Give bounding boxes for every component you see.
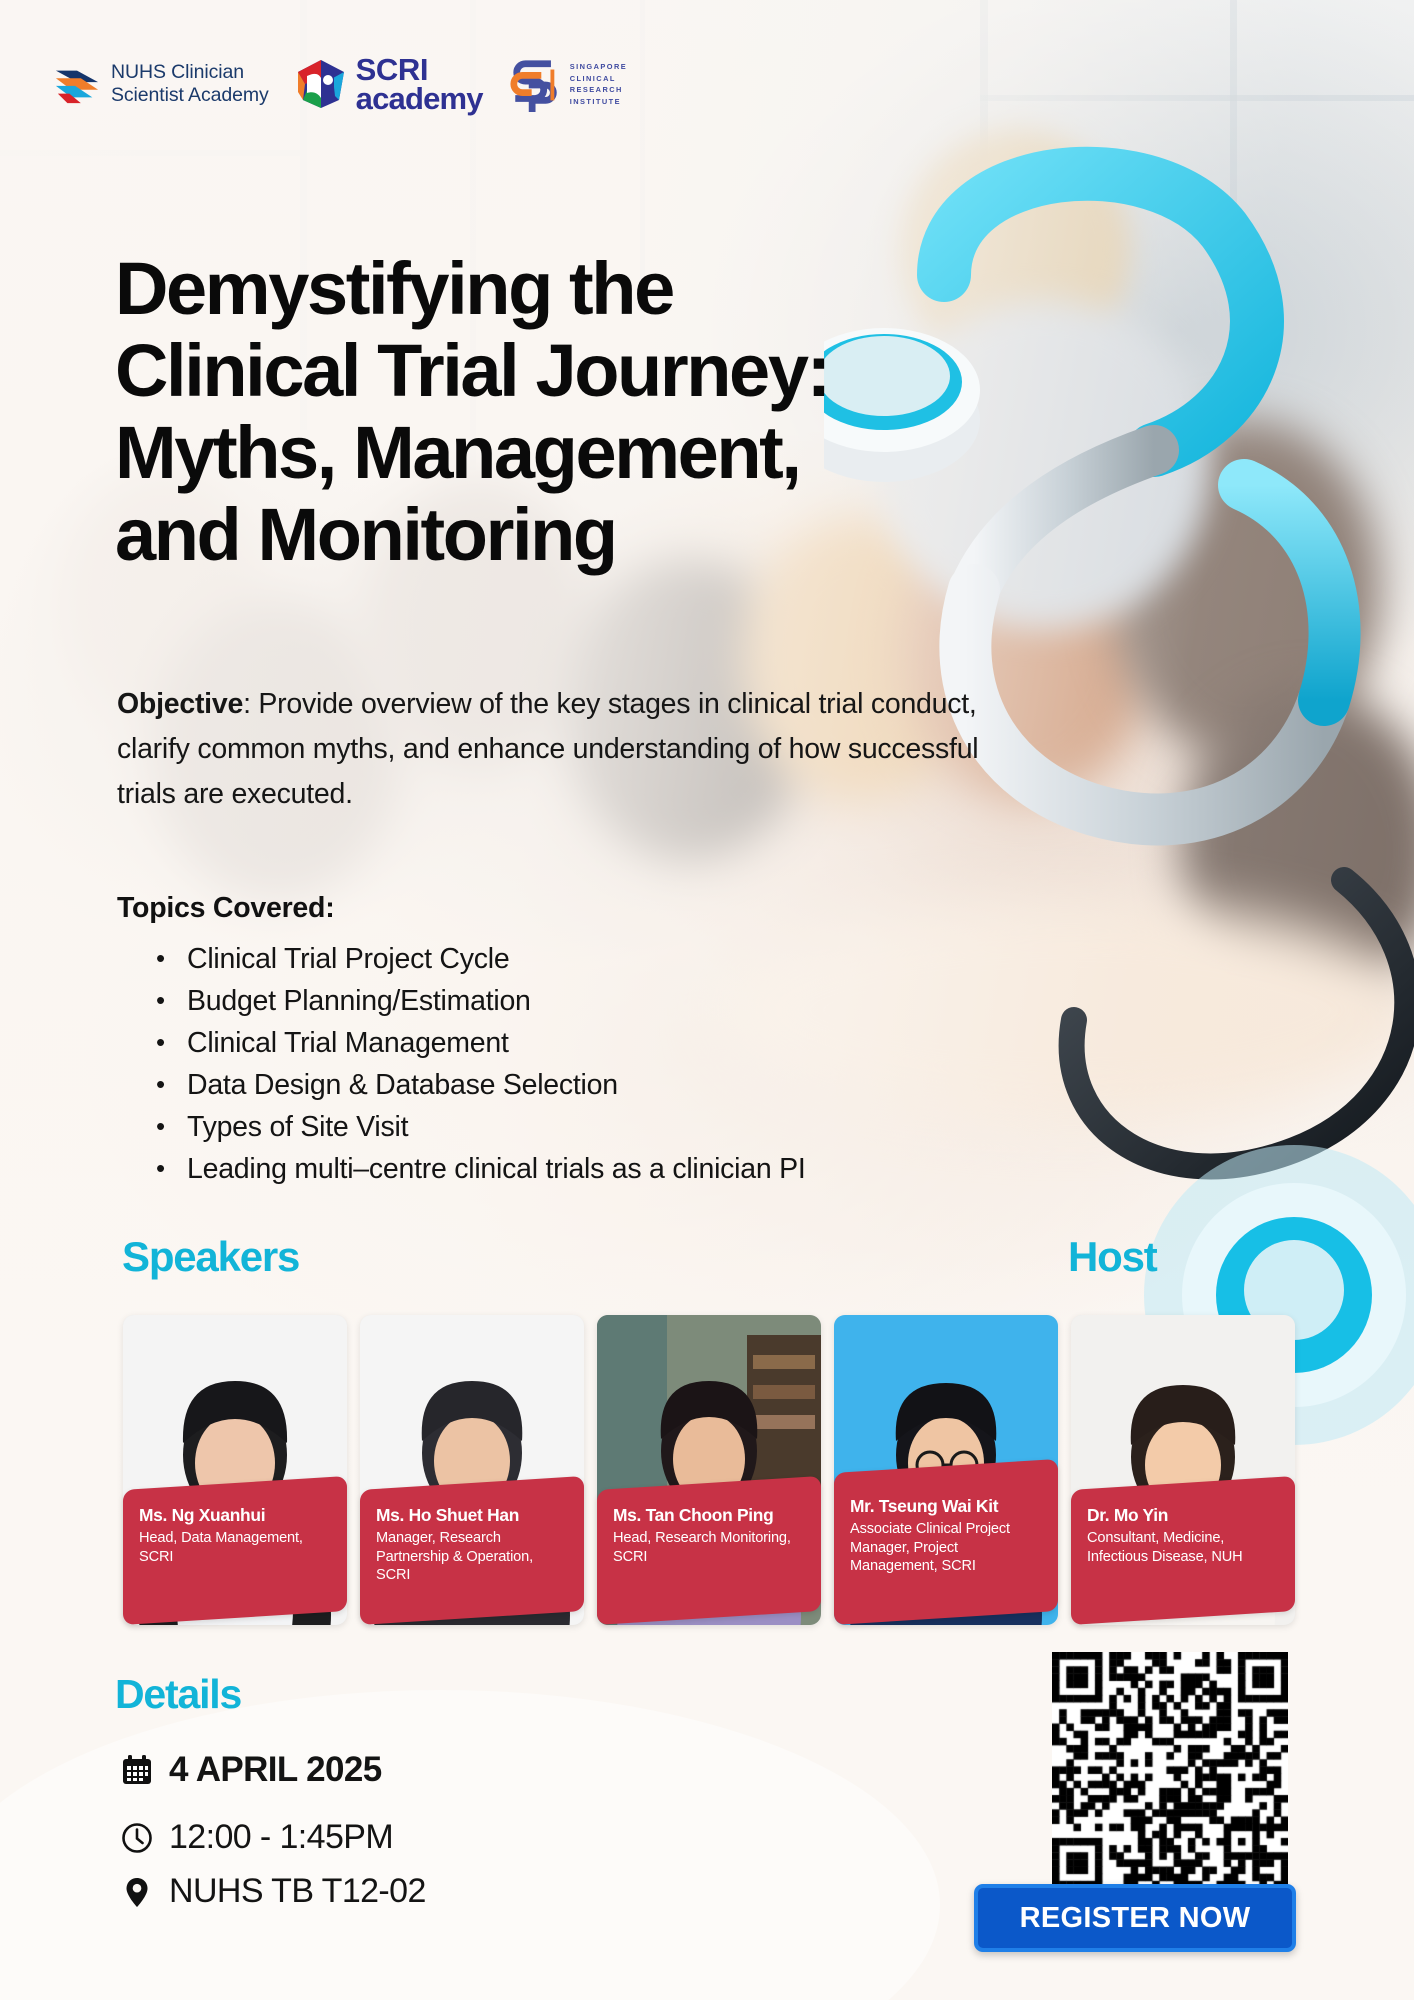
host-name: Dr. Mo Yin xyxy=(1087,1505,1281,1526)
scri-monogram-icon xyxy=(509,56,563,112)
location-pin-icon xyxy=(120,1875,154,1909)
detail-time: 12:00 - 1:45PM xyxy=(120,1818,393,1857)
speaker-name-plate: Ms. Ng Xuanhui Head, Data Management, SC… xyxy=(123,1476,347,1625)
nuhs-logo-text: NUHS Clinician Scientist Academy xyxy=(111,61,269,107)
scri-institute-words: SINGAPORE CLINICAL RESEARCH INSTITUTE xyxy=(570,61,627,107)
objective-label: Objective xyxy=(117,688,243,720)
detail-time-value: 12:00 - 1:45PM xyxy=(169,1818,393,1857)
objective-paragraph: Objective: Provide overview of the key s… xyxy=(117,682,997,817)
clock-icon xyxy=(120,1821,154,1855)
speaker-role: Head, Data Management, SCRI xyxy=(139,1529,333,1566)
nuhs-ribbon-icon xyxy=(54,61,100,107)
nuhs-clinician-scientist-academy-logo: NUHS Clinician Scientist Academy xyxy=(54,61,269,107)
speaker-card: Mr. Tseung Wai Kit Associate Clinical Pr… xyxy=(834,1315,1058,1625)
register-now-button[interactable]: REGISTER NOW xyxy=(974,1884,1296,1952)
event-poster: NUHS Clinician Scientist Academy SCRI ac… xyxy=(0,0,1414,2000)
scri-academy-logo-text: SCRI academy xyxy=(356,55,483,113)
topics-list: Clinical Trial Project Cycle Budget Plan… xyxy=(148,938,806,1190)
speaker-card-list: Ms. Ng Xuanhui Head, Data Management, SC… xyxy=(123,1315,1295,1625)
speakers-heading: Speakers xyxy=(122,1233,299,1281)
speaker-card: Ms. Ng Xuanhui Head, Data Management, SC… xyxy=(123,1315,347,1625)
scri-academy-book-icon xyxy=(295,58,347,110)
speaker-card: Ms. Ho Shuet Han Manager, Research Partn… xyxy=(360,1315,584,1625)
calendar-icon xyxy=(120,1753,154,1787)
list-item: Types of Site Visit xyxy=(148,1106,806,1148)
detail-date-value: 4 APRIL 2025 xyxy=(169,1750,382,1790)
list-item: Budget Planning/Estimation xyxy=(148,980,806,1022)
topics-heading: Topics Covered: xyxy=(117,892,334,925)
singapore-clinical-research-institute-logo: SINGAPORE CLINICAL RESEARCH INSTITUTE xyxy=(509,56,627,112)
speaker-name: Ms. Ho Shuet Han xyxy=(376,1505,570,1526)
scri-academy-logo: SCRI academy xyxy=(295,55,483,113)
speaker-name-plate: Ms. Tan Choon Ping Head, Research Monito… xyxy=(597,1476,821,1625)
host-card: Dr. Mo Yin Consultant, Medicine, Infecti… xyxy=(1071,1315,1295,1625)
speaker-name: Ms. Ng Xuanhui xyxy=(139,1505,333,1526)
detail-date: 4 APRIL 2025 xyxy=(120,1750,382,1790)
list-item: Leading multi–centre clinical trials as … xyxy=(148,1148,806,1190)
speaker-role: Manager, Research Partnership & Operatio… xyxy=(376,1529,570,1585)
host-name-plate: Dr. Mo Yin Consultant, Medicine, Infecti… xyxy=(1071,1476,1295,1625)
speaker-role: Associate Clinical Project Manager, Proj… xyxy=(850,1520,1044,1576)
logo-bar: NUHS Clinician Scientist Academy SCRI ac… xyxy=(54,55,627,113)
speaker-name-plate: Mr. Tseung Wai Kit Associate Clinical Pr… xyxy=(834,1459,1058,1625)
list-item: Data Design & Database Selection xyxy=(148,1064,806,1106)
host-heading: Host xyxy=(1068,1233,1157,1281)
registration-qr-code[interactable] xyxy=(1052,1652,1288,1888)
speaker-card: Ms. Tan Choon Ping Head, Research Monito… xyxy=(597,1315,821,1625)
speaker-name: Ms. Tan Choon Ping xyxy=(613,1505,807,1526)
detail-venue: NUHS TB T12-02 xyxy=(120,1872,426,1911)
speaker-role: Head, Research Monitoring, SCRI xyxy=(613,1529,807,1566)
details-heading: Details xyxy=(115,1671,241,1718)
register-button-label: REGISTER NOW xyxy=(1020,1902,1251,1935)
scri-academy-line2: academy xyxy=(356,84,483,113)
detail-venue-value: NUHS TB T12-02 xyxy=(169,1872,426,1911)
scri-academy-line1: SCRI xyxy=(356,55,483,84)
list-item: Clinical Trial Management xyxy=(148,1022,806,1064)
speaker-name-plate: Ms. Ho Shuet Han Manager, Research Partn… xyxy=(360,1476,584,1625)
objective-text: : Provide overview of the key stages in … xyxy=(117,688,978,810)
host-role: Consultant, Medicine, Infectious Disease… xyxy=(1087,1529,1281,1566)
page-title: Demystifying the Clinical Trial Journey:… xyxy=(115,248,1015,576)
list-item: Clinical Trial Project Cycle xyxy=(148,938,806,980)
speaker-name: Mr. Tseung Wai Kit xyxy=(850,1496,1044,1517)
